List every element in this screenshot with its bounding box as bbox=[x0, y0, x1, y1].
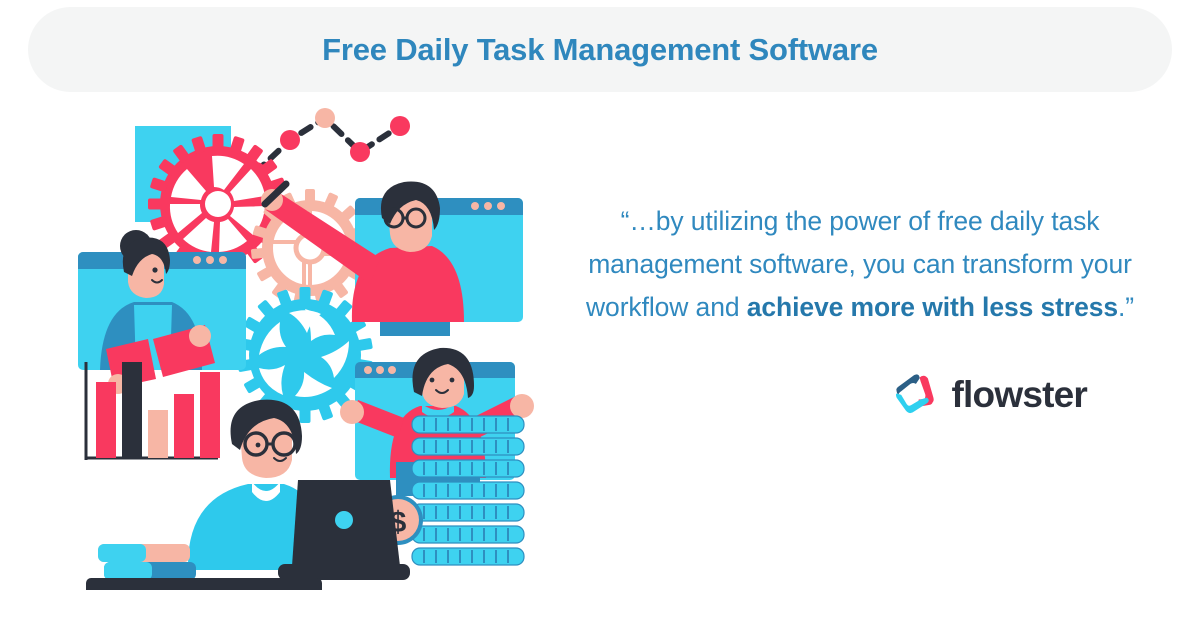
quote-part-two: .” bbox=[1118, 292, 1134, 322]
desk-surface bbox=[86, 578, 322, 590]
quote-text: “…by utilizing the power of free daily t… bbox=[575, 200, 1145, 329]
flowster-triangle-swirl-icon bbox=[892, 371, 938, 417]
poster-canvas: Free Daily Task Management Software bbox=[0, 0, 1200, 630]
books bbox=[98, 544, 196, 580]
quote-emphasis: achieve more with less stress bbox=[747, 292, 1118, 322]
coin-stack bbox=[412, 416, 524, 565]
brand-wordmark: flowster bbox=[952, 376, 1087, 413]
laptop bbox=[278, 480, 410, 580]
team-productivity-illustration: $ bbox=[60, 100, 580, 590]
brand-logo[interactable]: flowster bbox=[892, 371, 1087, 417]
header-banner: Free Daily Task Management Software bbox=[28, 7, 1172, 92]
quote-panel: “…by utilizing the power of free daily t… bbox=[575, 200, 1145, 500]
page-title: Free Daily Task Management Software bbox=[322, 34, 878, 65]
